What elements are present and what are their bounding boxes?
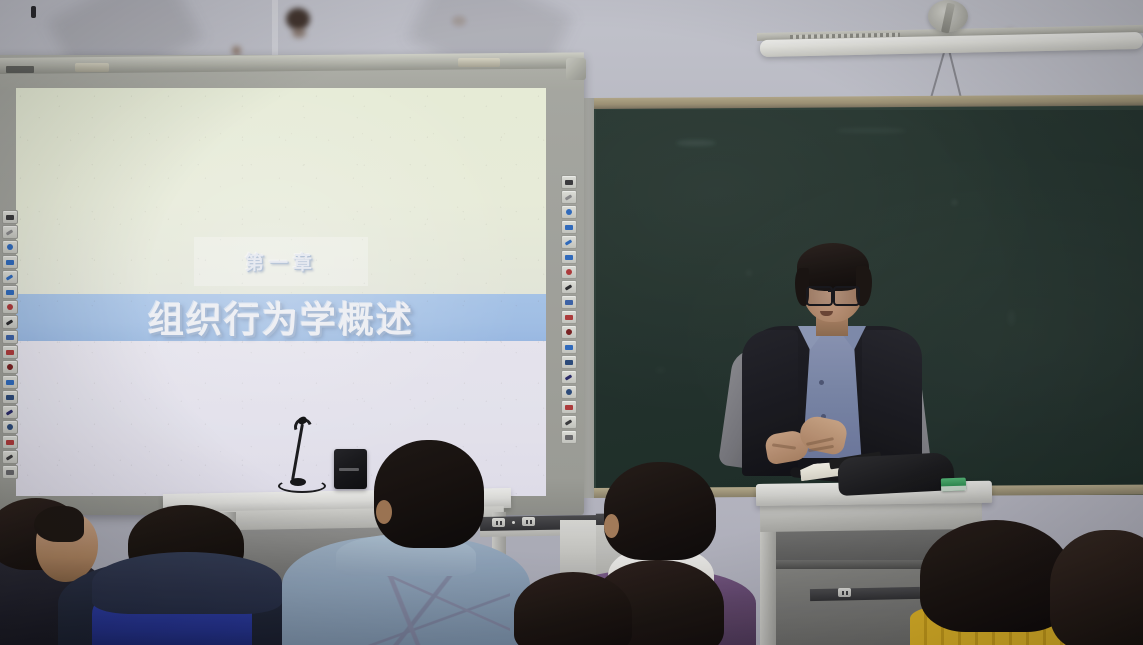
outlet-slot [526, 520, 528, 524]
monitor-icon-glyph [565, 360, 573, 365]
pointer-icon[interactable] [2, 405, 18, 419]
microphone-base [290, 478, 306, 486]
menu-icon[interactable] [2, 465, 18, 479]
select-tool-icon[interactable] [561, 190, 577, 204]
keyboard-icon[interactable] [2, 420, 18, 434]
blue-pen-icon[interactable] [561, 250, 577, 264]
student-desk-edge [810, 587, 920, 601]
highlighter-icon[interactable] [2, 240, 18, 254]
fill-tool-icon[interactable] [561, 235, 577, 249]
keyboard-icon[interactable] [561, 385, 577, 399]
monitor-icon-glyph [6, 395, 14, 400]
instructor-shirt-button [819, 380, 824, 385]
fill-tool-icon-glyph [6, 274, 14, 280]
whiteboard-right-toolbar[interactable] [560, 175, 577, 444]
shape-tool-icon-glyph [6, 260, 14, 265]
stamp-icon-glyph [565, 345, 573, 350]
blue-pen-icon[interactable] [2, 285, 18, 299]
glasses-bridge [828, 290, 834, 292]
slide-title: 组织行为学概述 [16, 294, 546, 341]
red-pen-icon[interactable] [561, 265, 577, 279]
fill-tool-icon-glyph [565, 239, 573, 245]
chalk-box-label [941, 486, 966, 492]
marker-icon-glyph [565, 300, 573, 305]
projection-screen: 第一章 组织行为学概述 [16, 88, 546, 496]
spotlight-icon-glyph [6, 454, 14, 460]
brush-icon-glyph [564, 328, 572, 336]
brush-icon[interactable] [561, 325, 577, 339]
student-hood [92, 552, 282, 614]
blackboard-smudge [656, 368, 665, 372]
power-outlet[interactable] [492, 518, 505, 527]
keyboard-icon-glyph [566, 389, 572, 395]
black-pen-icon-glyph [6, 319, 14, 325]
shape-tool-icon-glyph [565, 225, 573, 230]
portable-amplifier[interactable] [334, 449, 367, 489]
whiteboard-brand-label [6, 66, 34, 73]
amplifier-label [339, 468, 359, 471]
spotlight-icon[interactable] [2, 450, 18, 464]
fill-tool-icon[interactable] [2, 270, 18, 284]
select-tool-icon[interactable] [2, 225, 18, 239]
student-hair [514, 572, 632, 645]
wall-stain [292, 28, 306, 38]
highlighter-icon[interactable] [561, 205, 577, 219]
glasses-lens-right [833, 286, 860, 306]
outlet-indicator [512, 521, 515, 524]
marker-icon[interactable] [2, 330, 18, 344]
outlet-slot [530, 520, 532, 524]
amplifier-antenna [31, 6, 36, 18]
outlet-slot [500, 521, 502, 525]
outlet-slot [842, 591, 844, 595]
red-pen-icon[interactable] [2, 300, 18, 314]
red-pen-icon-glyph [7, 304, 13, 310]
eraser-icon-glyph [565, 315, 573, 320]
magnify-icon[interactable] [561, 400, 577, 414]
screen-capture-icon-glyph [6, 215, 14, 220]
student-hair-front [34, 506, 84, 542]
whiteboard-corner-cap [566, 58, 586, 80]
blackboard-smudge [746, 270, 752, 276]
monitor-icon[interactable] [561, 355, 577, 369]
brush-icon[interactable] [2, 360, 18, 374]
student-ear [604, 514, 619, 538]
marker-icon[interactable] [561, 295, 577, 309]
magnify-icon[interactable] [2, 435, 18, 449]
menu-icon-glyph [6, 470, 14, 475]
blackboard-smudge [1008, 310, 1015, 326]
student-hair [1050, 530, 1143, 645]
outlet-slot [496, 521, 498, 525]
slide-chapter-backdrop: 第一章 [194, 237, 369, 286]
menu-icon[interactable] [561, 430, 577, 444]
whiteboard-mount-bracket [75, 63, 109, 72]
red-pen-icon-glyph [566, 269, 572, 275]
black-shoulder-bag [837, 452, 955, 496]
whiteboard-mount-bracket [458, 58, 500, 67]
highlighter-icon-glyph [566, 209, 572, 215]
screen-capture-icon-glyph [565, 180, 573, 185]
student-hair [374, 440, 484, 548]
black-pen-icon[interactable] [2, 315, 18, 329]
shape-tool-icon[interactable] [2, 255, 18, 269]
pointer-icon-glyph [565, 374, 573, 380]
monitor-icon[interactable] [2, 390, 18, 404]
classroom-scene: 第一章 组织行为学概述 [0, 0, 1143, 645]
student-ear [376, 500, 392, 524]
blackboard-smudge [952, 200, 957, 205]
power-outlet[interactable] [838, 588, 851, 597]
stamp-icon[interactable] [2, 375, 18, 389]
outlet-slot [846, 591, 848, 595]
shape-tool-icon[interactable] [561, 220, 577, 234]
eraser-icon[interactable] [561, 310, 577, 324]
wall-stain [232, 46, 241, 55]
slide-chapter-label: 第一章 [194, 237, 369, 286]
screen-capture-icon[interactable] [561, 175, 577, 189]
select-tool-icon-glyph [565, 194, 573, 200]
blackboard-smudge [676, 140, 716, 146]
eraser-icon-glyph [6, 350, 14, 355]
glasses-lens-left [806, 286, 833, 306]
select-tool-icon-glyph [6, 229, 14, 235]
blue-pen-icon-glyph [565, 255, 573, 260]
lectern-apron [760, 501, 982, 532]
black-pen-icon[interactable] [561, 280, 577, 294]
wall-stain [286, 8, 310, 30]
magnify-icon-glyph [565, 405, 573, 410]
student-hair [604, 462, 716, 560]
wall-seam [272, 0, 278, 62]
brush-icon-glyph [5, 363, 13, 371]
whiteboard-left-toolbar[interactable] [1, 210, 18, 479]
keyboard-icon-glyph [7, 424, 13, 430]
magnify-icon-glyph [6, 440, 14, 445]
black-pen-icon-glyph [565, 284, 573, 290]
marker-icon-glyph [6, 335, 14, 340]
spotlight-icon-glyph [565, 419, 573, 425]
menu-icon-glyph [565, 435, 573, 440]
stamp-icon[interactable] [561, 340, 577, 354]
pointer-icon-glyph [6, 409, 14, 415]
eraser-icon[interactable] [2, 345, 18, 359]
green-chalk-box [941, 478, 966, 492]
power-outlet[interactable] [522, 517, 535, 526]
screen-capture-icon[interactable] [2, 210, 18, 224]
spotlight-icon[interactable] [561, 415, 577, 429]
pointer-icon[interactable] [561, 370, 577, 384]
stamp-icon-glyph [6, 380, 14, 385]
blackboard-smudge [836, 128, 906, 133]
highlighter-icon-glyph [7, 244, 13, 250]
blue-pen-icon-glyph [6, 290, 14, 295]
